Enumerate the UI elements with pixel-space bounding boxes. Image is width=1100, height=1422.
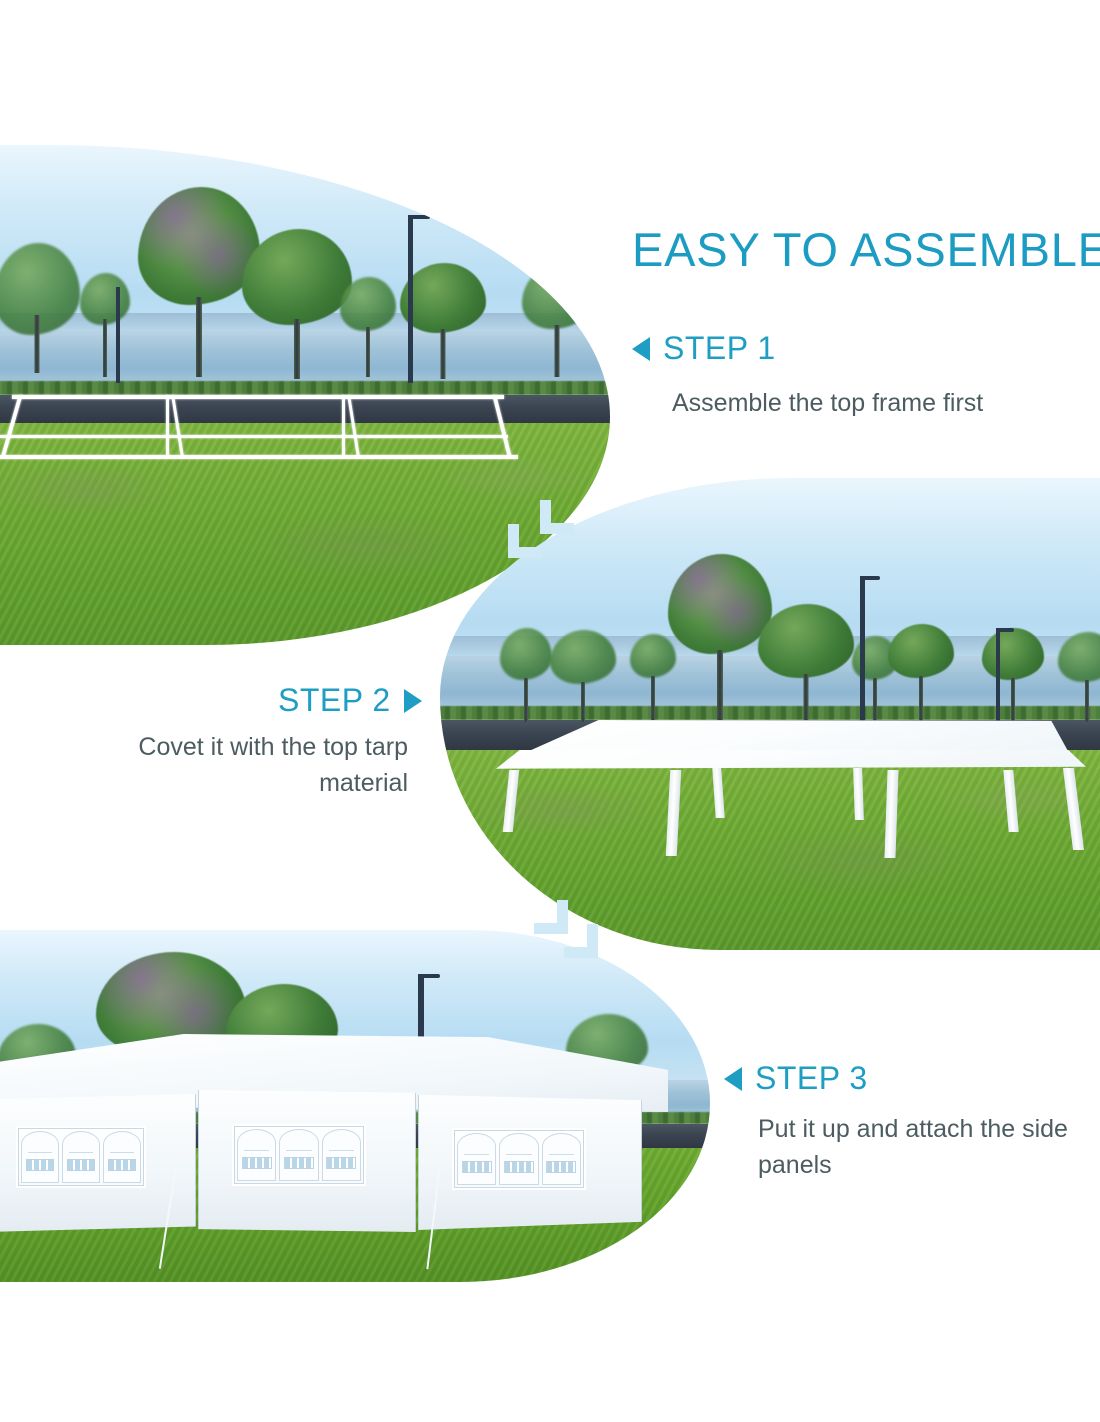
step-1-title: STEP 1 <box>632 330 776 367</box>
step-2-title: STEP 2 <box>278 682 422 719</box>
step-3-label: STEP 3 <box>755 1060 868 1097</box>
step-3-photo <box>0 930 710 1282</box>
step-1-label: STEP 1 <box>663 330 776 367</box>
lamp-post-icon <box>996 628 1000 722</box>
step-2-label: STEP 2 <box>278 682 391 719</box>
triangle-left-icon <box>632 337 650 361</box>
page-title: EASY TO ASSEMBLE <box>632 222 1100 277</box>
infographic-canvas: EASY TO ASSEMBLE STEP 1 Assemble the top… <box>0 0 1100 1422</box>
step-3-title: STEP 3 <box>724 1060 868 1097</box>
triangle-left-icon <box>724 1067 742 1091</box>
step-1-description: Assemble the top frame first <box>672 386 1072 422</box>
step-2-description: Covet it with the top tarp material <box>60 730 408 801</box>
tent-window <box>452 1128 586 1190</box>
lamp-post-icon <box>860 576 865 722</box>
tent-window <box>232 1124 366 1186</box>
step-3-description: Put it up and attach the side panels <box>758 1112 1068 1183</box>
tent-window <box>16 1126 146 1188</box>
triangle-right-icon <box>404 689 422 713</box>
